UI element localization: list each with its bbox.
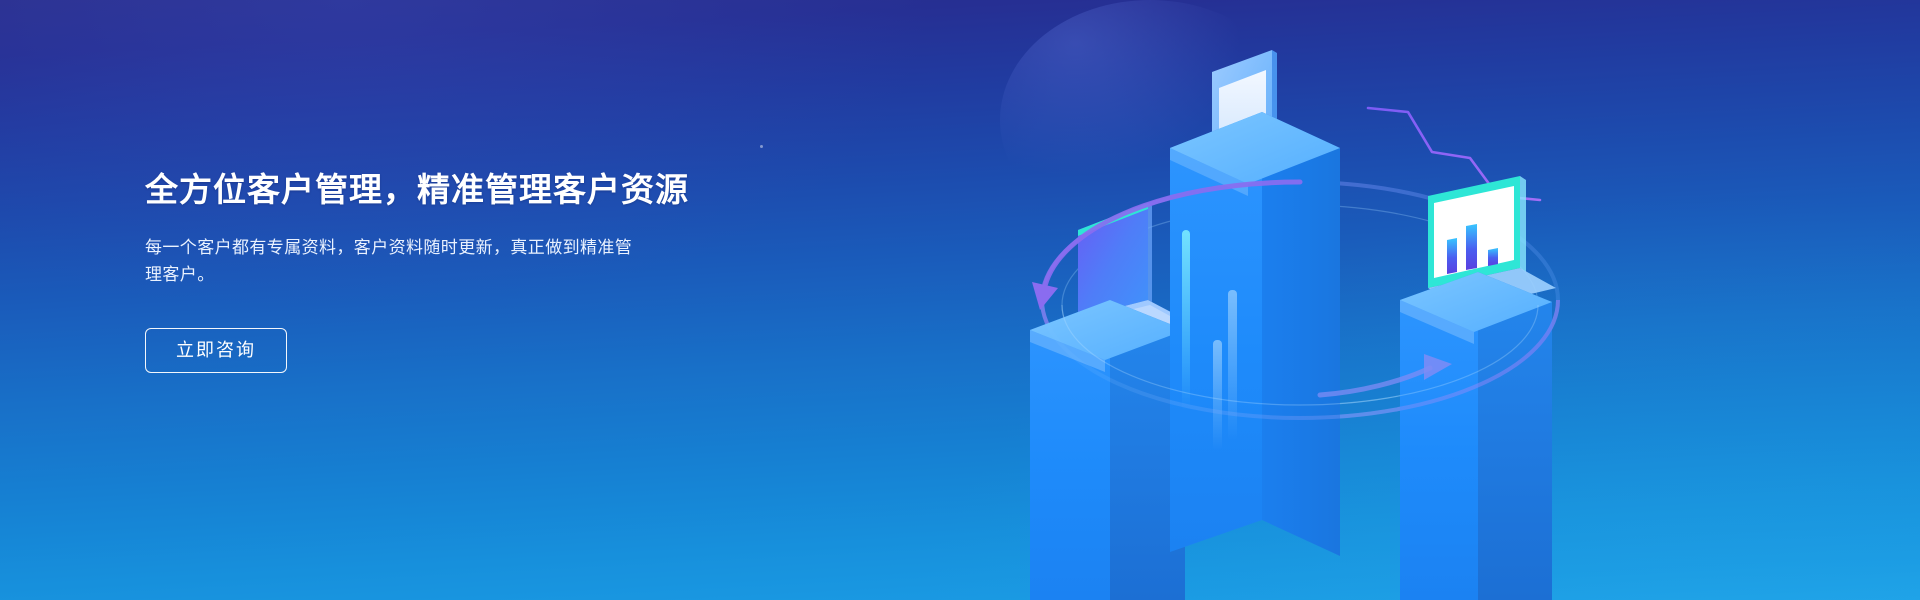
center-accent-bar-2 bbox=[1213, 340, 1222, 450]
monitor-bar-1 bbox=[1447, 238, 1457, 274]
decorative-speck bbox=[760, 145, 763, 148]
page-title: 全方位客户管理，精准管理客户资源 bbox=[145, 168, 785, 212]
monitor-bar-3 bbox=[1488, 248, 1498, 266]
hero-subtitle: 每一个客户都有专属资料，客户资料随时更新，真正做到精准管理客户。 bbox=[145, 234, 635, 288]
arrow-left-down-head bbox=[1032, 282, 1058, 310]
laptop-screen-side bbox=[1148, 203, 1152, 302]
center-column-side bbox=[1262, 112, 1340, 556]
center-accent-bar-1 bbox=[1182, 230, 1190, 410]
consult-now-button[interactable]: 立即咨询 bbox=[145, 328, 287, 373]
hero-banner: 全方位客户管理，精准管理客户资源 每一个客户都有专属资料，客户资料随时更新，真正… bbox=[0, 0, 1920, 600]
center-accent-bar-3 bbox=[1228, 290, 1237, 440]
right-column-group bbox=[1400, 176, 1556, 600]
monitor-bar-2 bbox=[1466, 224, 1477, 270]
hero-copy-block: 全方位客户管理，精准管理客户资源 每一个客户都有专属资料，客户资料随时更新，真正… bbox=[145, 168, 785, 373]
isometric-data-columns-illustration bbox=[1000, 0, 1620, 600]
monitor-side bbox=[1520, 176, 1526, 272]
